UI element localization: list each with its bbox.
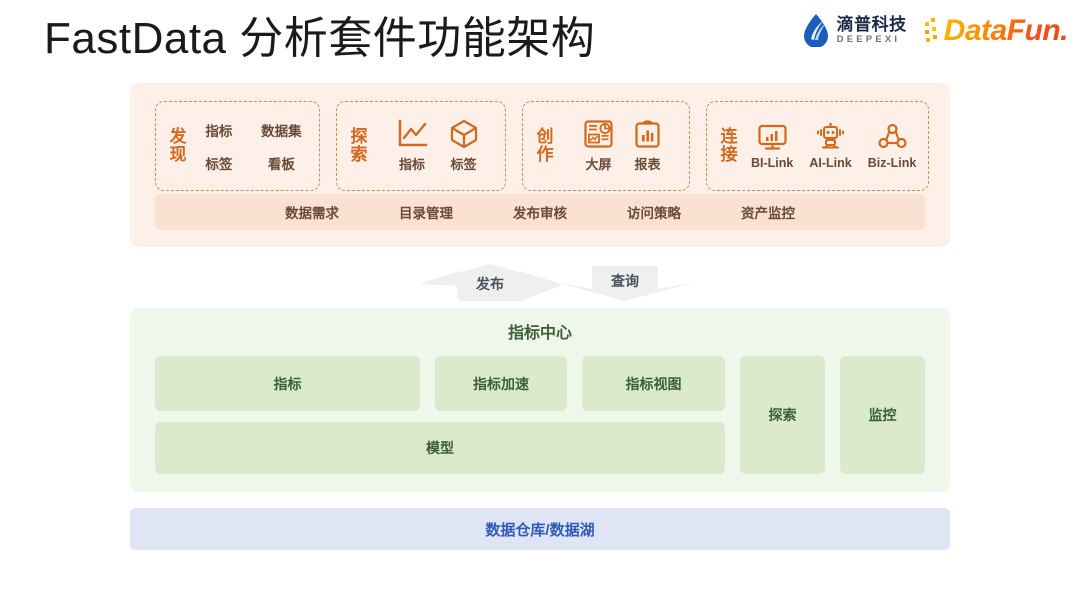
item-biaoqian[interactable]: 标签 — [205, 153, 232, 173]
application-layer: 发现 指标 数据集 标签 看板 探索 指标 — [130, 83, 950, 247]
metric-center-layer: 指标中心 指标 指标加速 指标视图 模型 探索 监控 — [130, 308, 950, 492]
label-create-daping: 大屏 — [585, 154, 611, 173]
dot-pattern-icon — [925, 18, 942, 44]
flow-arrow-publish: 发布 — [420, 263, 560, 303]
metric-box-tansuo[interactable]: 探索 — [740, 356, 825, 474]
metric-box-zhibiao-jiasu[interactable]: 指标加速 — [435, 356, 567, 411]
flow-arrow-query-label: 查询 — [555, 271, 695, 291]
deepexi-en-text: DEEPEXI — [837, 35, 907, 45]
metric-box-moxing[interactable]: 模型 — [155, 422, 725, 474]
flow-arrow-query: 查询 — [555, 263, 695, 303]
group-create-items: 大屏 报表 — [567, 119, 677, 173]
clipboard-chart-icon — [634, 119, 661, 149]
metric-box-jiankong[interactable]: 监控 — [840, 356, 925, 474]
robot-icon — [815, 123, 846, 151]
label-bi-link: BI-Link — [751, 156, 793, 170]
label-biz-link: Biz-Link — [868, 156, 917, 170]
group-discover-title: 发现 — [168, 128, 188, 164]
group-explore-title: 探索 — [349, 128, 369, 164]
group-create[interactable]: 创作 大屏 — [522, 101, 690, 191]
item-shujuji[interactable]: 数据集 — [261, 120, 302, 140]
line-chart-icon — [396, 119, 429, 149]
flow-arrow-group: 发布 查询 — [130, 263, 950, 305]
governance-bar: 数据需求 目录管理 发布审核 访问策略 资产监控 — [155, 194, 925, 230]
item-biz-link[interactable]: Biz-Link — [868, 123, 917, 170]
item-ai-link[interactable]: AI-Link — [809, 123, 851, 170]
label-ai-link: AI-Link — [809, 156, 851, 170]
dashboard-screen-icon — [583, 119, 614, 149]
network-nodes-icon — [877, 123, 908, 151]
metric-center-top-row: 指标 指标加速 指标视图 — [155, 356, 725, 411]
group-connect-title: 连接 — [719, 128, 739, 164]
water-drop-icon — [802, 14, 830, 47]
deepexi-wordmark: 滴普科技 DEEPEXI — [837, 16, 907, 45]
metric-center-grid: 指标 指标加速 指标视图 模型 探索 监控 — [155, 356, 925, 474]
monitor-chart-icon — [757, 123, 788, 151]
metric-box-zhibiao[interactable]: 指标 — [155, 356, 420, 411]
logo-group: 滴普科技 DEEPEXI DataFun. — [794, 10, 1072, 51]
label-create-baobiao: 报表 — [634, 154, 660, 173]
item-create-daping[interactable]: 大屏 — [583, 119, 614, 173]
item-bi-link[interactable]: BI-Link — [751, 123, 793, 170]
gov-item-publish-review[interactable]: 发布审核 — [513, 202, 567, 222]
deepexi-logo: 滴普科技 DEEPEXI — [794, 10, 915, 51]
page-title: FastData 分析套件功能架构 — [44, 8, 595, 70]
datafun-wordmark: DataFun. — [944, 16, 1068, 46]
slide-root: FastData 分析套件功能架构 滴普科技 DEEPEXI — [0, 0, 1080, 607]
group-connect[interactable]: 连接 BI-Link — [706, 101, 929, 191]
group-explore[interactable]: 探索 指标 标 — [336, 101, 506, 191]
group-connect-items: BI-Link — [751, 123, 916, 170]
datafun-logo: DataFun. — [921, 14, 1072, 48]
metric-box-zhibiao-shitu[interactable]: 指标视图 — [582, 356, 725, 411]
gov-item-data-demand[interactable]: 数据需求 — [285, 202, 339, 222]
gov-item-asset-monitor[interactable]: 资产监控 — [741, 202, 795, 222]
application-group-list: 发现 指标 数据集 标签 看板 探索 指标 — [155, 101, 925, 191]
item-create-baobiao[interactable]: 报表 — [634, 119, 661, 173]
item-zhibiao[interactable]: 指标 — [205, 120, 232, 140]
metric-center-main-column: 指标 指标加速 指标视图 模型 — [155, 356, 725, 474]
gov-item-catalog-mgmt[interactable]: 目录管理 — [399, 202, 453, 222]
metric-center-title: 指标中心 — [130, 319, 950, 343]
group-discover[interactable]: 发现 指标 数据集 标签 看板 — [155, 101, 320, 191]
deepexi-cn-text: 滴普科技 — [837, 16, 907, 33]
flow-arrow-publish-label: 发布 — [420, 274, 560, 294]
group-create-title: 创作 — [535, 128, 555, 164]
gov-item-access-policy[interactable]: 访问策略 — [627, 202, 681, 222]
item-kanban[interactable]: 看板 — [268, 153, 295, 173]
item-explore-biaoqian[interactable]: 标签 — [449, 119, 479, 173]
storage-layer[interactable]: 数据仓库/数据湖 — [130, 508, 950, 550]
item-explore-zhibiao[interactable]: 指标 — [396, 119, 429, 173]
label-explore-zhibiao: 指标 — [399, 154, 425, 173]
group-discover-items: 指标 数据集 标签 看板 — [200, 120, 307, 173]
group-explore-items: 指标 标签 — [381, 119, 493, 173]
cube-icon — [449, 119, 479, 149]
label-explore-biaoqian: 标签 — [450, 154, 476, 173]
storage-layer-label: 数据仓库/数据湖 — [485, 519, 594, 540]
